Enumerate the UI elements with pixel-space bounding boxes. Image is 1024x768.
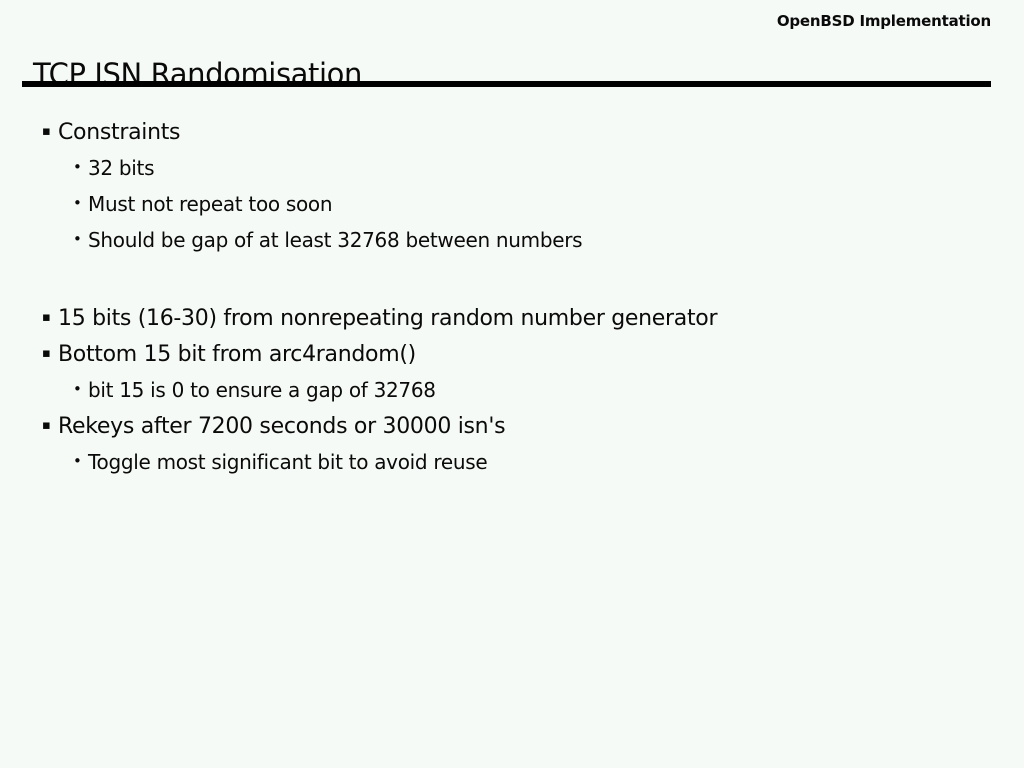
slide-body: ▪Constraints•32 bits•Must not repeat too… xyxy=(0,120,1024,486)
round-bullet-icon: • xyxy=(73,196,88,211)
bullet-item-level2: •Should be gap of at least 32768 between… xyxy=(0,228,1024,264)
bullet-item-level1: ▪Constraints xyxy=(0,120,1024,156)
round-bullet-icon: • xyxy=(73,160,88,175)
slide-header-label: OpenBSD Implementation xyxy=(777,12,991,30)
square-bullet-icon: ▪ xyxy=(42,419,58,432)
bullet-text: bit 15 is 0 to ensure a gap of 32768 xyxy=(88,378,436,402)
square-bullet-icon: ▪ xyxy=(42,347,58,360)
bullet-text: Constraints xyxy=(58,120,180,145)
title-divider-rule xyxy=(22,81,991,87)
bullet-item-level1: ▪Bottom 15 bit from arc4random() xyxy=(0,342,1024,378)
bullet-spacer xyxy=(0,264,1024,306)
bullet-item-level2: •bit 15 is 0 to ensure a gap of 32768 xyxy=(0,378,1024,414)
bullet-item-level2: •Must not repeat too soon xyxy=(0,192,1024,228)
presentation-slide: OpenBSD Implementation TCP ISN Randomisa… xyxy=(0,0,1024,768)
square-bullet-icon: ▪ xyxy=(42,125,58,138)
round-bullet-icon: • xyxy=(73,454,88,469)
square-bullet-icon: ▪ xyxy=(42,311,58,324)
bullet-text: Should be gap of at least 32768 between … xyxy=(88,228,582,252)
bullet-item-level1: ▪Rekeys after 7200 seconds or 30000 isn'… xyxy=(0,414,1024,450)
bullet-text: Rekeys after 7200 seconds or 30000 isn's xyxy=(58,414,505,439)
bullet-text: Bottom 15 bit from arc4random() xyxy=(58,342,416,367)
round-bullet-icon: • xyxy=(73,382,88,397)
bullet-item-level1: ▪15 bits (16-30) from nonrepeating rando… xyxy=(0,306,1024,342)
bullet-text: Toggle most significant bit to avoid reu… xyxy=(88,450,487,474)
bullet-text: 15 bits (16-30) from nonrepeating random… xyxy=(58,306,717,331)
bullet-text: Must not repeat too soon xyxy=(88,192,332,216)
bullet-item-level2: •32 bits xyxy=(0,156,1024,192)
bullet-text: 32 bits xyxy=(88,156,154,180)
round-bullet-icon: • xyxy=(73,232,88,247)
bullet-item-level2: •Toggle most significant bit to avoid re… xyxy=(0,450,1024,486)
